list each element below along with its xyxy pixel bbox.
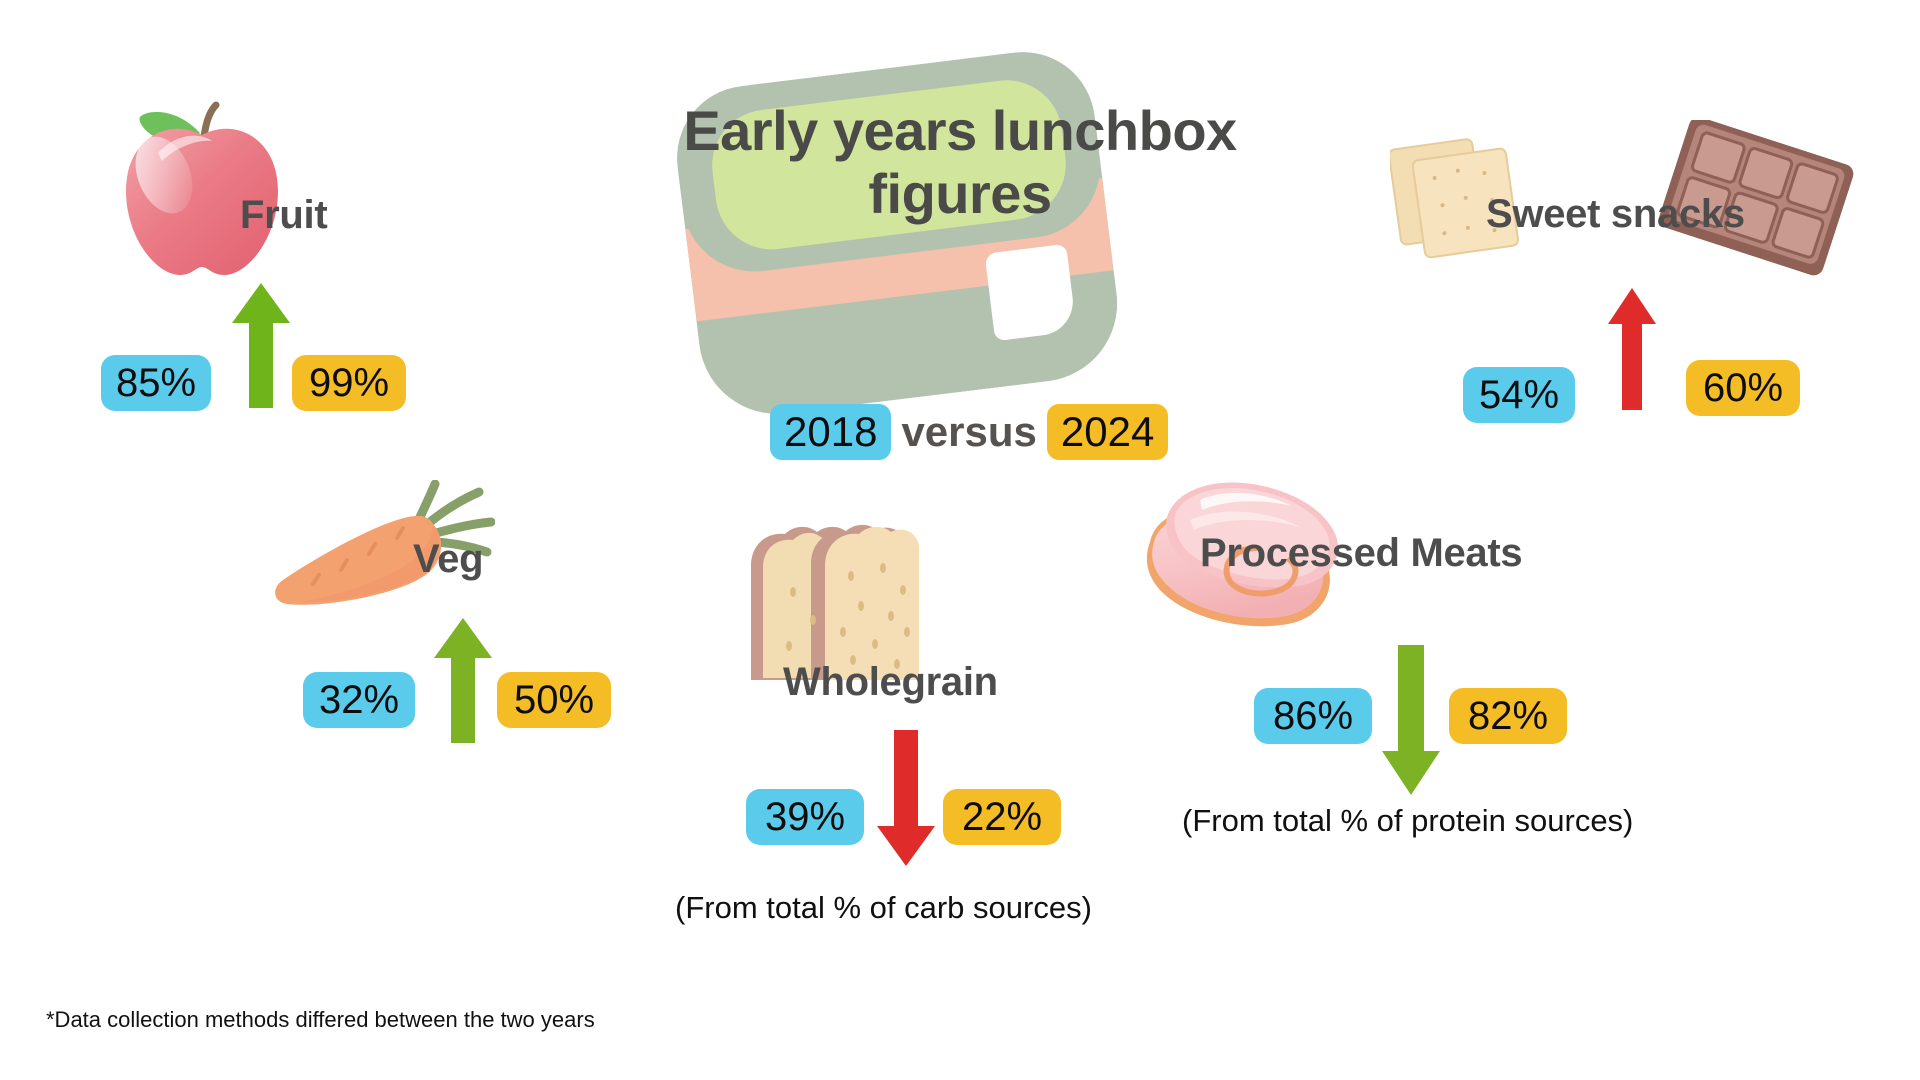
category-label-wholegrain: Wholegrain: [783, 660, 998, 705]
value-badge-veg-2024: 50%: [497, 672, 611, 728]
page-title: Early years lunchbox figures: [600, 100, 1320, 225]
year-legend: 2018 versus 2024: [770, 404, 1168, 460]
value-badge-processed-meats-2024: 82%: [1449, 688, 1567, 744]
value-badge-wholegrain-2018: 39%: [746, 789, 864, 845]
trend-arrow-wholegrain: [877, 730, 935, 866]
value-badge-sweet-snacks-2024: 60%: [1686, 360, 1800, 416]
footnote-text: *Data collection methods differed betwee…: [46, 1007, 595, 1033]
trend-arrow-sweet-snacks: [1608, 288, 1656, 410]
value-badge-processed-meats-2018: 86%: [1254, 688, 1372, 744]
legend-versus-text: versus: [891, 408, 1046, 456]
apple-icon: [112, 95, 292, 280]
category-label-fruit: Fruit: [240, 193, 327, 238]
category-label-veg: Veg: [413, 537, 483, 582]
infographic-canvas: Early years lunchbox figures 2018 versus…: [0, 0, 1920, 1080]
lunchbox-icon: [640, 28, 1160, 428]
category-label-processed-meats: Processed Meats: [1200, 531, 1522, 576]
caption-wholegrain: (From total % of carb sources): [675, 890, 1092, 926]
trend-arrow-processed-meats: [1382, 645, 1440, 795]
value-badge-wholegrain-2024: 22%: [943, 789, 1061, 845]
legend-chip-2018: 2018: [770, 404, 891, 460]
legend-chip-2024: 2024: [1047, 404, 1168, 460]
trend-arrow-fruit: [232, 283, 290, 408]
value-badge-fruit-2018: 85%: [101, 355, 211, 411]
value-badge-veg-2018: 32%: [303, 672, 415, 728]
category-label-sweet-snacks: Sweet snacks: [1486, 192, 1745, 237]
caption-processed-meats: (From total % of protein sources): [1182, 803, 1633, 839]
value-badge-fruit-2024: 99%: [292, 355, 406, 411]
value-badge-sweet-snacks-2018: 54%: [1463, 367, 1575, 423]
trend-arrow-veg: [434, 618, 492, 743]
